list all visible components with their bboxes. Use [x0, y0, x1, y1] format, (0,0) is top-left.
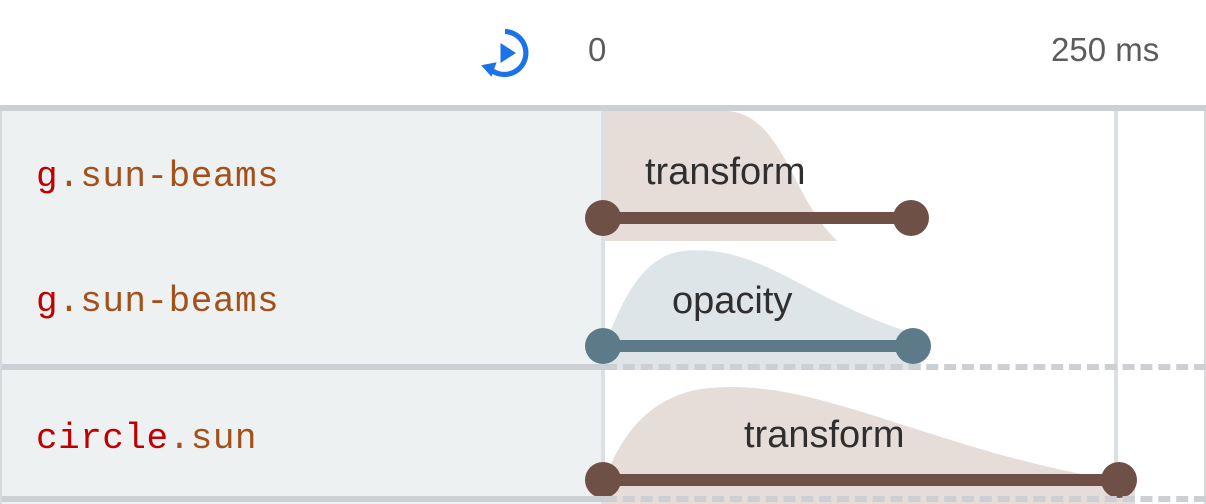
row-separator-solid — [2, 364, 605, 370]
animations-timeline-panel: 0 250 ms g.sun-beams transform g.sun-bea… — [0, 0, 1206, 504]
row-separator-solid — [2, 496, 605, 502]
animation-selector-label[interactable]: g.sun-beams — [36, 284, 279, 320]
row-separator-dashed — [605, 496, 1206, 502]
keyframe-track[interactable] — [585, 200, 929, 236]
timeline-ruler: 0 250 ms — [0, 0, 1206, 105]
keyframe-track[interactable] — [585, 328, 931, 364]
selector-class: .sun-beams — [58, 281, 279, 322]
animation-row[interactable]: circle.sun transform — [0, 376, 1206, 504]
keyframe-start-handle[interactable] — [585, 200, 621, 236]
animation-property-name: opacity — [672, 282, 792, 320]
selector-element: circle — [36, 418, 169, 459]
selector-element: g — [36, 281, 58, 322]
keyframe-track[interactable] — [585, 462, 1139, 498]
animation-selector-label[interactable]: g.sun-beams — [36, 159, 279, 195]
keyframe-end-handle[interactable] — [1101, 462, 1137, 498]
animation-row[interactable]: g.sun-beams transform — [0, 111, 1206, 241]
selector-element: g — [36, 156, 58, 197]
animation-property-name: transform — [744, 416, 904, 454]
animation-property-name: transform — [645, 153, 805, 191]
track-line — [603, 474, 1119, 486]
track-line — [603, 340, 913, 352]
replay-icon[interactable] — [478, 26, 532, 80]
keyframe-start-handle[interactable] — [585, 462, 621, 498]
selector-class: .sun-beams — [58, 156, 279, 197]
animation-row[interactable]: g.sun-beams opacity — [0, 241, 1206, 370]
track-line — [603, 212, 911, 224]
animation-selector-label[interactable]: circle.sun — [36, 421, 257, 457]
selector-class: .sun — [169, 418, 257, 459]
ruler-tick-start: 0 — [588, 30, 606, 70]
keyframe-end-handle[interactable] — [893, 200, 929, 236]
row-separator-dashed — [605, 364, 1206, 370]
keyframe-start-handle[interactable] — [585, 328, 621, 364]
keyframe-end-handle[interactable] — [895, 328, 931, 364]
ruler-tick-end: 250 ms — [1051, 30, 1159, 70]
